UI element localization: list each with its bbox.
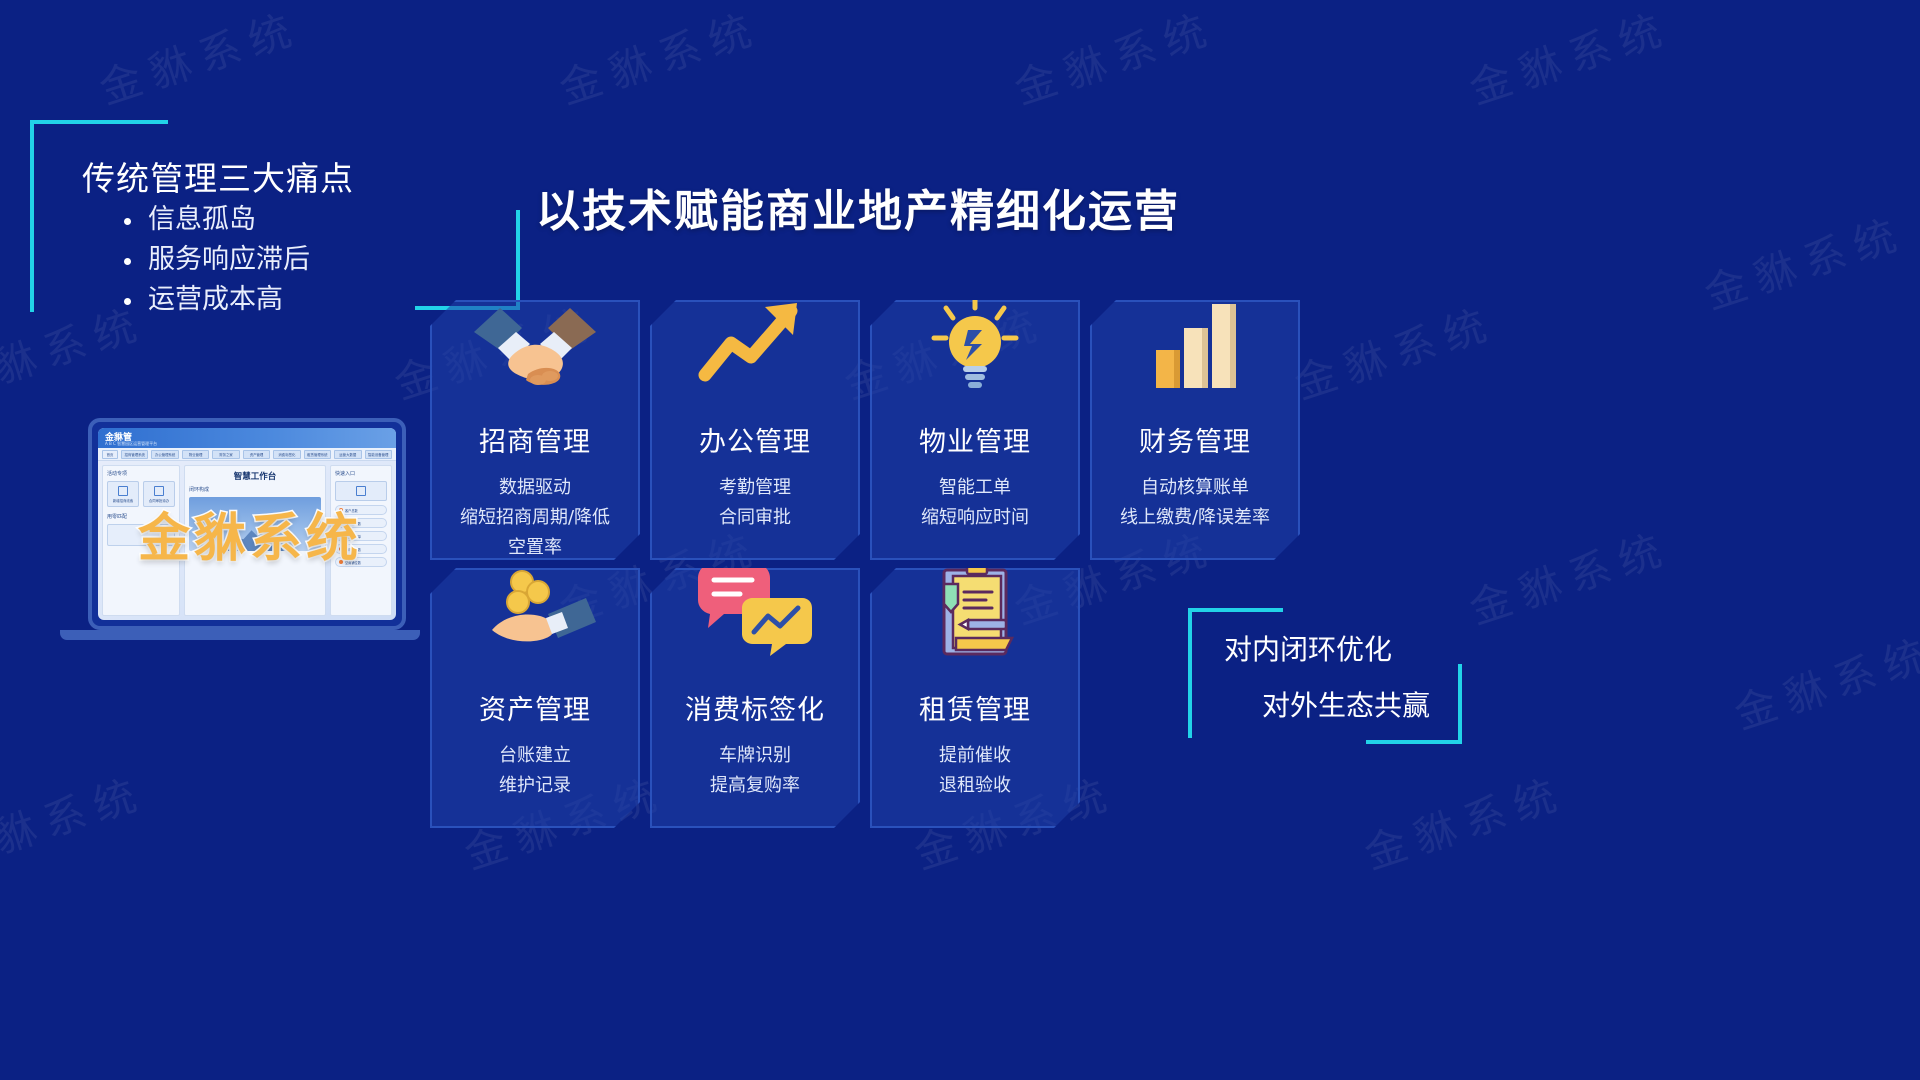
outcome-external: 对外生态共赢 bbox=[1262, 684, 1430, 724]
card-title: 办公管理 bbox=[652, 420, 858, 459]
laptop-base bbox=[60, 630, 420, 640]
card-title: 资产管理 bbox=[432, 688, 638, 727]
nav-item[interactable]: 智能设备管理 bbox=[365, 450, 392, 459]
nav-item[interactable]: 物业管理 bbox=[182, 450, 209, 459]
card-desc: 智能工单 缩短响应时间 bbox=[872, 473, 1078, 533]
workbench-title: 智慧工作台 bbox=[189, 470, 321, 482]
card-desc: 自动核算账单 线上缴费/降误差率 bbox=[1092, 473, 1298, 533]
pain-point-list: 信息孤岛 服务响应滞后 运营成本高 bbox=[122, 200, 310, 320]
laptop-mockup: 金貅管 A B C 智慧园区运营管理平台 首页 招商管理系统 办公管理系统 物业… bbox=[60, 418, 420, 658]
desc-line: 车牌识别 bbox=[719, 745, 791, 766]
growth-arrow-icon bbox=[652, 276, 858, 410]
feature-card-grid: 招商管理 数据驱动 缩短招商周期/降低 空置率 办公管理 考勤管理 bbox=[430, 300, 1430, 828]
feature-card-finance[interactable]: 财务管理 自动核算账单 线上缴费/降误差率 bbox=[1090, 300, 1300, 560]
card-title: 物业管理 bbox=[872, 420, 1078, 459]
card-desc: 车牌识别 提高复购率 bbox=[652, 741, 858, 801]
feature-card-lease[interactable]: 租赁管理 提前催收 退租验收 bbox=[870, 568, 1080, 828]
feature-card-office[interactable]: 办公管理 考勤管理 合同审批 bbox=[650, 300, 860, 560]
app-header: 金貅管 A B C 智慧园区运营管理平台 bbox=[98, 428, 396, 448]
card-desc: 数据驱动 缩短招商周期/降低 空置率 bbox=[432, 473, 638, 563]
desc-line: 缩短招商周期/降低 bbox=[460, 507, 610, 528]
nav-item[interactable]: 租赁管理系统 bbox=[304, 450, 331, 459]
card-title: 财务管理 bbox=[1092, 420, 1298, 459]
desc-line: 线上缴费/降误差率 bbox=[1120, 507, 1270, 528]
chat-analytics-icon bbox=[652, 544, 858, 678]
document-icon bbox=[118, 486, 128, 496]
page-title: 以技术赋能商业地产精细化运营 bbox=[536, 175, 1180, 239]
feature-card-investment[interactable]: 招商管理 数据驱动 缩短招商周期/降低 空置率 bbox=[430, 300, 640, 560]
clipboard-icon bbox=[872, 544, 1078, 678]
panel-title: 快速入口 bbox=[335, 470, 387, 477]
bar-chart-icon bbox=[1092, 276, 1298, 410]
desc-line: 自动核算账单 bbox=[1141, 477, 1249, 498]
desc-line: 提高复购率 bbox=[710, 775, 800, 796]
card-desc: 台账建立 维护记录 bbox=[432, 741, 638, 801]
hand-coins-icon bbox=[432, 544, 638, 678]
desc-line: 空置率 bbox=[508, 537, 562, 558]
app-nav-bar[interactable]: 首页 招商管理系统 办公管理系统 物业管理 财务之家 资产管理 消费标签化 租赁… bbox=[98, 448, 396, 461]
desc-line: 智能工单 bbox=[939, 477, 1011, 498]
card-desc: 提前催收 退租验收 bbox=[872, 741, 1078, 801]
brand-overlay-text: 金貅系统 bbox=[100, 496, 400, 571]
card-title: 租赁管理 bbox=[872, 688, 1078, 727]
desc-line: 数据驱动 bbox=[499, 477, 571, 498]
list-item: 信息孤岛 bbox=[122, 200, 310, 240]
feature-card-property[interactable]: 物业管理 智能工单 缩短响应时间 bbox=[870, 300, 1080, 560]
approval-icon bbox=[154, 486, 164, 496]
desc-line: 合同审批 bbox=[719, 507, 791, 528]
search-icon bbox=[356, 486, 366, 496]
list-item: 运营成本高 bbox=[122, 280, 310, 320]
desc-line: 提前催收 bbox=[939, 745, 1011, 766]
panel-title: 活动专项 bbox=[107, 470, 175, 477]
desc-line: 缩短响应时间 bbox=[921, 507, 1029, 528]
slide-stage: 传统管理三大痛点 信息孤岛 服务响应滞后 运营成本高 以技术赋能商业地产精细化运… bbox=[0, 0, 1920, 1080]
nav-item[interactable]: 消费标签化 bbox=[273, 450, 300, 459]
card-title: 招商管理 bbox=[432, 420, 638, 459]
desc-line: 维护记录 bbox=[499, 775, 571, 796]
feature-card-asset[interactable]: 资产管理 台账建立 维护记录 bbox=[430, 568, 640, 828]
card-title: 消费标签化 bbox=[652, 688, 858, 727]
card-row-1: 招商管理 数据驱动 缩短招商周期/降低 空置率 办公管理 考勤管理 bbox=[430, 300, 1430, 560]
desc-line: 台账建立 bbox=[499, 745, 571, 766]
card-desc: 考勤管理 合同审批 bbox=[652, 473, 858, 533]
desc-line: 退租验收 bbox=[939, 775, 1011, 796]
app-logo-subtitle: A B C 智慧园区运营管理平台 bbox=[105, 441, 157, 447]
nav-item[interactable]: 首页 bbox=[102, 450, 118, 459]
lightbulb-icon bbox=[872, 276, 1078, 410]
workbench-subtitle: 闭环构成 bbox=[189, 486, 321, 493]
pain-panel-title: 传统管理三大痛点 bbox=[82, 152, 354, 200]
pain-bracket-bottom-right bbox=[415, 210, 520, 310]
nav-item[interactable]: 招商管理系统 bbox=[121, 450, 148, 459]
nav-item[interactable]: 资产管理 bbox=[243, 450, 270, 459]
list-item: 服务响应滞后 bbox=[122, 240, 310, 280]
outcome-internal: 对内闭环优化 bbox=[1224, 628, 1392, 668]
nav-item[interactable]: 运营大数据 bbox=[334, 450, 361, 459]
desc-line: 考勤管理 bbox=[719, 477, 791, 498]
nav-item[interactable]: 办公管理系统 bbox=[151, 450, 178, 459]
nav-item[interactable]: 财务之家 bbox=[212, 450, 239, 459]
feature-card-consumer-tag[interactable]: 消费标签化 车牌识别 提高复购率 bbox=[650, 568, 860, 828]
